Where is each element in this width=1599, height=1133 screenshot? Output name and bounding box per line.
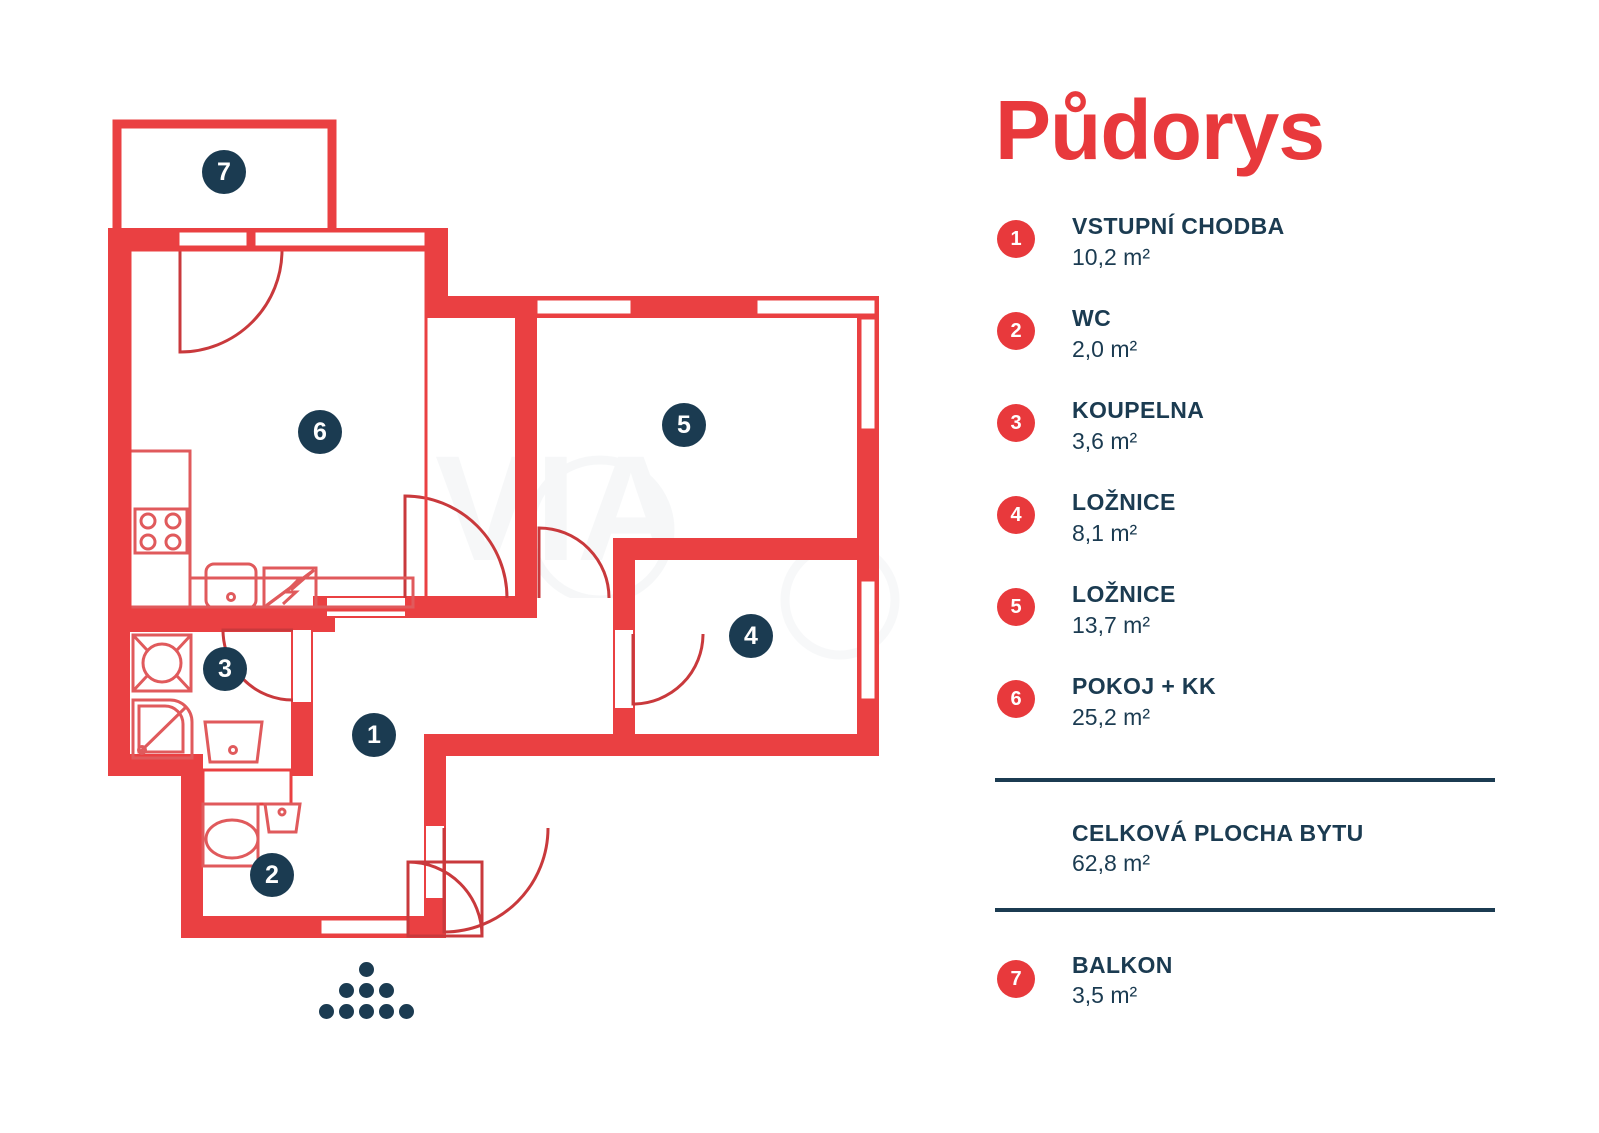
- room-marker-6[interactable]: 6: [298, 410, 342, 454]
- room-marker-4[interactable]: 4: [729, 614, 773, 658]
- legend-panel: Půdorys 1 VSTUPNÍ CHODBA 10,2 m² 2 WC 2,…: [995, 0, 1525, 1133]
- legend-area-5: 13,7 m²: [1072, 609, 1176, 642]
- svg-text:VIA: VIA: [435, 424, 685, 592]
- legend-badge-2-number: 2: [1010, 321, 1021, 341]
- floorplan-page: VIA: [0, 0, 1599, 1133]
- floorplan-drawing: VIA: [0, 0, 960, 1133]
- legend-text-1: VSTUPNÍ CHODBA 10,2 m²: [1072, 212, 1285, 274]
- legend-item-1[interactable]: 1 VSTUPNÍ CHODBA 10,2 m²: [995, 212, 1495, 304]
- legend-name-2: WC: [1072, 304, 1137, 333]
- legend-item-5[interactable]: 5 LOŽNICE 13,7 m²: [995, 580, 1495, 672]
- room-marker-1[interactable]: 1: [352, 713, 396, 757]
- room-marker-2-label: 2: [265, 863, 279, 888]
- room-marker-6-label: 6: [313, 420, 327, 445]
- room-marker-3[interactable]: 3: [203, 647, 247, 691]
- room-marker-2[interactable]: 2: [250, 853, 294, 897]
- legend-area-3: 3,6 m²: [1072, 425, 1204, 458]
- legend-name-3: KOUPELNA: [1072, 396, 1204, 425]
- legend-item-4[interactable]: 4 LOŽNICE 8,1 m²: [995, 488, 1495, 580]
- legend-text-7: BALKON 3,5 m²: [1072, 952, 1173, 1012]
- legend-name-5: LOŽNICE: [1072, 580, 1176, 609]
- legend-badge-3: 3: [997, 404, 1035, 442]
- legend-text-4: LOŽNICE 8,1 m²: [1072, 488, 1176, 550]
- room-marker-5-label: 5: [677, 413, 691, 438]
- room-marker-7-label: 7: [217, 160, 231, 185]
- legend-area-2: 2,0 m²: [1072, 333, 1137, 366]
- total-area-block: CELKOVÁ PLOCHA BYTU 62,8 m²: [1072, 820, 1364, 880]
- legend-room-list: 1 VSTUPNÍ CHODBA 10,2 m² 2 WC 2,0 m² 3: [995, 212, 1495, 764]
- legend-divider-bottom: [995, 908, 1495, 912]
- legend-item-6[interactable]: 6 POKOJ + KK 25,2 m²: [995, 672, 1495, 764]
- legend-badge-7: 7: [997, 960, 1035, 998]
- legend-area-7: 3,5 m²: [1072, 979, 1173, 1012]
- logo-dot-pyramid: [318, 962, 414, 1020]
- legend-item-3[interactable]: 3 KOUPELNA 3,6 m²: [995, 396, 1495, 488]
- legend-badge-6-number: 6: [1010, 689, 1021, 709]
- legend-badge-7-number: 7: [1010, 969, 1021, 989]
- total-area-label: CELKOVÁ PLOCHA BYTU: [1072, 820, 1364, 847]
- legend-name-7: BALKON: [1072, 952, 1173, 979]
- room-marker-3-label: 3: [218, 657, 232, 682]
- legend-text-5: LOŽNICE 13,7 m²: [1072, 580, 1176, 642]
- legend-name-4: LOŽNICE: [1072, 488, 1176, 517]
- room-marker-1-label: 1: [367, 723, 381, 748]
- legend-divider-top: [995, 778, 1495, 782]
- legend-area-1: 10,2 m²: [1072, 241, 1285, 274]
- legend-badge-1-number: 1: [1010, 229, 1021, 249]
- room-marker-7[interactable]: 7: [202, 150, 246, 194]
- legend-text-3: KOUPELNA 3,6 m²: [1072, 396, 1204, 458]
- legend-badge-4: 4: [997, 496, 1035, 534]
- legend-name-6: POKOJ + KK: [1072, 672, 1216, 701]
- room-marker-5[interactable]: 5: [662, 403, 706, 447]
- bathroom-fixtures: [133, 635, 262, 762]
- legend-area-4: 8,1 m²: [1072, 517, 1176, 550]
- legend-badge-3-number: 3: [1010, 413, 1021, 433]
- legend-badge-5-number: 5: [1010, 597, 1021, 617]
- legend-text-6: POKOJ + KK 25,2 m²: [1072, 672, 1216, 734]
- legend-badge-5: 5: [997, 588, 1035, 626]
- legend-item-2[interactable]: 2 WC 2,0 m²: [995, 304, 1495, 396]
- legend-badge-1: 1: [997, 220, 1035, 258]
- legend-badge-2: 2: [997, 312, 1035, 350]
- page-title: Půdorys: [995, 82, 1324, 179]
- legend-badge-6: 6: [997, 680, 1035, 718]
- legend-badge-4-number: 4: [1010, 505, 1021, 525]
- legend-text-2: WC 2,0 m²: [1072, 304, 1137, 366]
- legend-name-1: VSTUPNÍ CHODBA: [1072, 212, 1285, 241]
- legend-area-6: 25,2 m²: [1072, 701, 1216, 734]
- room-marker-4-label: 4: [744, 624, 758, 649]
- total-area-value: 62,8 m²: [1072, 847, 1364, 880]
- kitchen-fixtures: [130, 451, 413, 608]
- floorplan-svg: VIA: [0, 0, 960, 1133]
- thin-outlines: [130, 250, 426, 610]
